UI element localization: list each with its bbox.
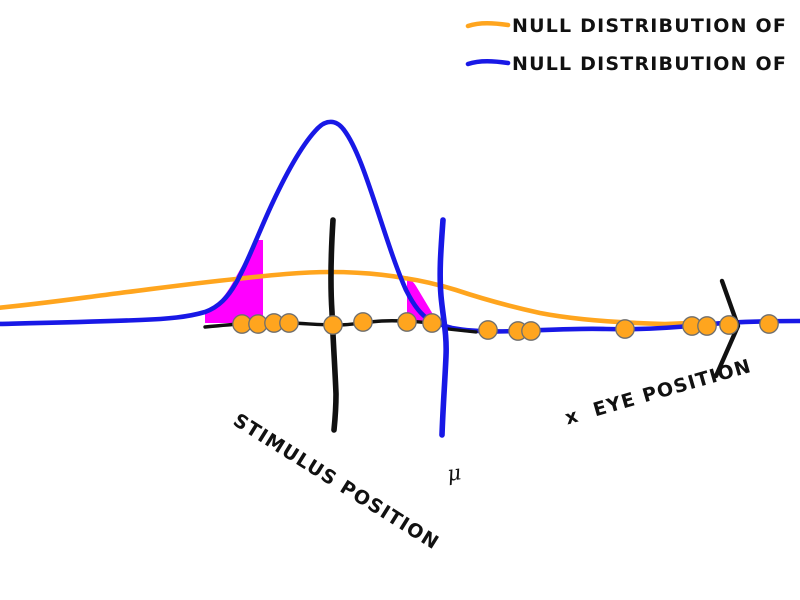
eye-position-label: x EYE POSITION bbox=[563, 355, 755, 429]
data-point bbox=[479, 321, 497, 339]
hand-drawn-statistics-figure: NULL DISTRIBUTION OF x NULL DISTRIBUTION… bbox=[0, 0, 800, 600]
legend-label-null-x: NULL DISTRIBUTION OF x bbox=[512, 15, 800, 37]
data-point bbox=[720, 316, 738, 334]
legend-label-null-t-prefix: NULL DISTRIBUTION OF bbox=[512, 53, 787, 75]
data-point bbox=[398, 313, 416, 331]
eye-position-label-group: x EYE POSITION bbox=[563, 355, 755, 429]
null-distribution-t-curve bbox=[0, 122, 800, 332]
data-point bbox=[423, 314, 441, 332]
data-point bbox=[616, 320, 634, 338]
eye-position-symbol: x bbox=[563, 405, 582, 430]
data-point bbox=[698, 317, 716, 335]
legend-label-null-t: NULL DISTRIBUTION OF t bbox=[512, 51, 800, 75]
figure-canvas: NULL DISTRIBUTION OF x NULL DISTRIBUTION… bbox=[0, 0, 800, 600]
legend-swatch-null-x bbox=[468, 23, 508, 26]
eye-position-text: EYE POSITION bbox=[591, 355, 754, 421]
null-distribution-x-curve bbox=[0, 272, 690, 324]
data-point bbox=[354, 313, 372, 331]
data-point bbox=[280, 314, 298, 332]
data-point bbox=[522, 322, 540, 340]
data-point bbox=[324, 316, 342, 334]
legend-swatch-null-t bbox=[468, 61, 508, 64]
data-point bbox=[760, 315, 778, 333]
mu-label: μ bbox=[446, 460, 463, 486]
legend: NULL DISTRIBUTION OF x NULL DISTRIBUTION… bbox=[468, 15, 800, 75]
mu-position-line bbox=[440, 220, 446, 435]
data-points-group bbox=[233, 313, 778, 340]
legend-label-null-x-prefix: NULL DISTRIBUTION OF bbox=[512, 15, 787, 37]
